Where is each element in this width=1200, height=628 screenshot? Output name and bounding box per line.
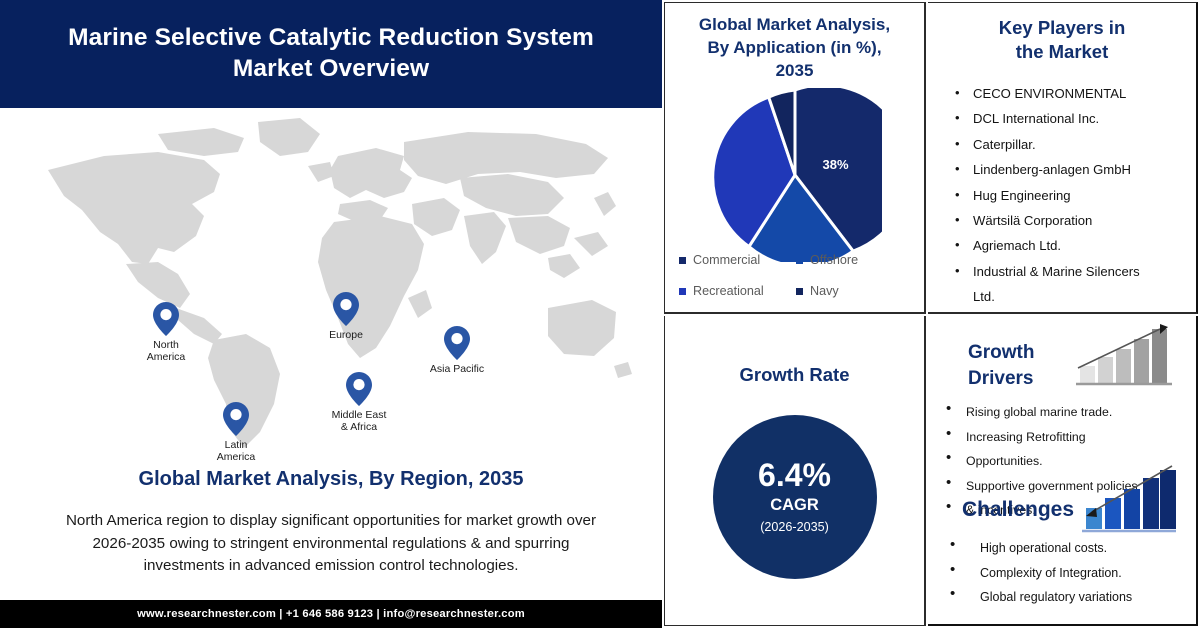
location-pin-icon: [444, 326, 470, 360]
marker-label-line1: Middle East: [332, 409, 387, 421]
legend-item-navy[interactable]: Navy: [796, 284, 913, 298]
map-marker-label: Asia Pacific: [430, 364, 484, 376]
list-item: Rising global marine trade.: [936, 400, 1188, 425]
world-map-graphic: [8, 112, 638, 452]
pie-panel-title: Global Market Analysis, By Application (…: [665, 3, 924, 82]
map-marker-label: Europe: [329, 330, 363, 342]
location-pin-icon: [153, 302, 179, 336]
map-marker-label: Middle East & Africa: [332, 410, 387, 433]
pie-chart-panel: Global Market Analysis, By Application (…: [664, 2, 926, 314]
marker-label-line1: North: [153, 339, 179, 351]
legend-swatch-icon: [679, 257, 686, 264]
key-players-list: CECO ENVIRONMENTAL DCL International Inc…: [952, 81, 1188, 284]
pie-chart-svg: [708, 88, 882, 262]
growth-rate-title: Growth Rate: [665, 316, 924, 386]
key-players-title-line2: the Market: [1016, 41, 1109, 62]
growth-drivers-title: Growth Drivers: [968, 340, 1035, 392]
pie-title-line1: Global Market Analysis,: [699, 15, 890, 34]
location-pin-icon: [333, 292, 359, 326]
page-title: Marine Selective Catalytic Reduction Sys…: [0, 0, 662, 84]
list-item: Increasing Retrofitting: [936, 425, 1188, 450]
legend-item-recreational[interactable]: Recreational: [679, 284, 796, 298]
list-item: Caterpillar.: [952, 132, 1188, 157]
list-item: Lindenberg-anlagen GmbH: [952, 157, 1188, 182]
list-item: Industrial & Marine Silencers: [952, 259, 1188, 284]
world-map-panel: North America Europe Asia Pacific: [0, 108, 662, 460]
pie-chart: 38%: [708, 88, 882, 267]
pie-slice-label-commercial: 38%: [823, 157, 849, 172]
growth-drivers-title-line2: Drivers: [968, 368, 1034, 389]
marker-label-line1: Latin: [225, 439, 248, 451]
footer-bar: www.researchnester.com | +1 646 586 9123…: [0, 600, 662, 628]
list-item: DCL International Inc.: [952, 106, 1188, 131]
key-players-title-line1: Key Players in: [999, 17, 1126, 38]
cagr-period: (2026-2035): [760, 517, 829, 537]
pie-legend: Commercial Offshore Recreational Navy: [679, 253, 913, 315]
region-description: North America region to display signific…: [60, 510, 602, 578]
legend-item-offshore[interactable]: Offshore: [796, 253, 913, 267]
marker-label-line2: & Africa: [341, 421, 377, 433]
infographic-page: Marine Selective Catalytic Reduction Sys…: [0, 0, 1200, 628]
list-item: Agriemach Ltd.: [952, 233, 1188, 258]
pie-title-line3: 2035: [776, 61, 814, 80]
list-item: High operational costs.: [936, 536, 1188, 561]
legend-label: Recreational: [693, 284, 764, 298]
list-item: CECO ENVIRONMENTAL: [952, 81, 1188, 106]
challenges-title: Challenges: [962, 498, 1074, 522]
ascending-bar-chart-blue-icon: [1080, 464, 1178, 534]
challenges-list: High operational costs. Complexity of In…: [936, 536, 1188, 610]
ascending-bar-chart-gray-icon: [1074, 322, 1174, 388]
location-pin-icon: [346, 372, 372, 406]
marker-label-line2: America: [217, 451, 256, 463]
left-column: Marine Selective Catalytic Reduction Sys…: [0, 0, 662, 628]
region-caption: Global Market Analysis, By Region, 2035: [0, 468, 662, 491]
footer-contact-text: www.researchnester.com | +1 646 586 9123…: [0, 600, 662, 628]
list-item: Global regulatory variations: [936, 585, 1188, 610]
key-players-panel: Key Players in the Market CECO ENVIRONME…: [928, 2, 1198, 314]
legend-label: Offshore: [810, 253, 858, 267]
pie-title-line2: By Application (in %),: [707, 38, 881, 57]
growth-rate-panel: Growth Rate 6.4% CAGR (2026-2035): [664, 316, 926, 626]
cagr-unit: CAGR: [770, 493, 819, 517]
legend-label: Navy: [810, 284, 839, 298]
list-item: Hug Engineering: [952, 183, 1188, 208]
marker-label-line1: Europe: [329, 329, 363, 341]
growth-drivers-challenges-panel: Growth Drivers Rising global marine trad…: [928, 316, 1198, 626]
key-players-last-item-continuation: Ltd.: [952, 284, 995, 309]
location-pin-icon: [223, 402, 249, 436]
title-band: Marine Selective Catalytic Reduction Sys…: [0, 0, 662, 108]
list-item: Wärtsilä Corporation: [952, 208, 1188, 233]
cagr-value: 6.4%: [758, 457, 831, 493]
key-players-title: Key Players in the Market: [928, 3, 1196, 64]
map-marker-label: Latin America: [217, 440, 256, 463]
map-marker-label: North America: [147, 340, 186, 363]
marker-label-line1: Asia Pacific: [430, 363, 484, 375]
growth-drivers-title-line1: Growth: [968, 342, 1035, 363]
legend-swatch-icon: [796, 288, 803, 295]
legend-item-commercial[interactable]: Commercial: [679, 253, 796, 267]
marker-label-line2: America: [147, 351, 186, 363]
legend-swatch-icon: [796, 257, 803, 264]
list-item: Complexity of Integration.: [936, 561, 1188, 586]
legend-label: Commercial: [693, 253, 760, 267]
legend-swatch-icon: [679, 288, 686, 295]
cagr-circle: 6.4% CAGR (2026-2035): [713, 415, 877, 579]
